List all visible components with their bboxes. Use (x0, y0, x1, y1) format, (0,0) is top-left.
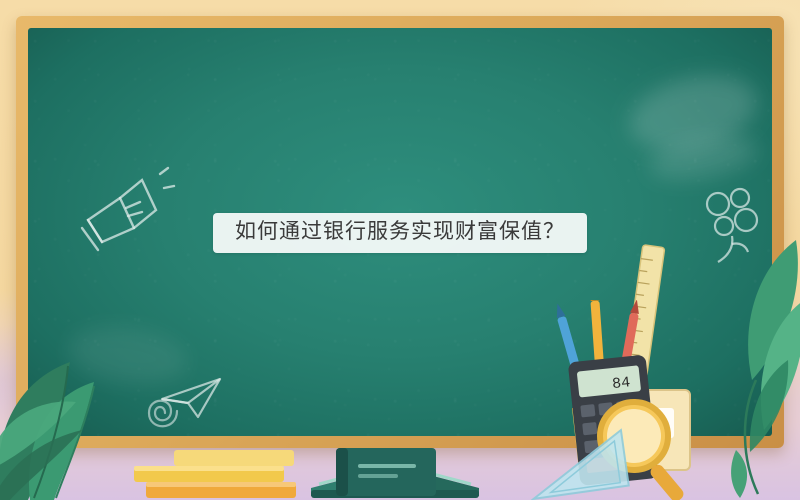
poster-canvas: 如何通过银行服务实现财富保值？ (0, 0, 800, 500)
triangle-ruler (520, 410, 640, 500)
megaphone-icon (68, 158, 178, 268)
list-item (330, 430, 450, 500)
